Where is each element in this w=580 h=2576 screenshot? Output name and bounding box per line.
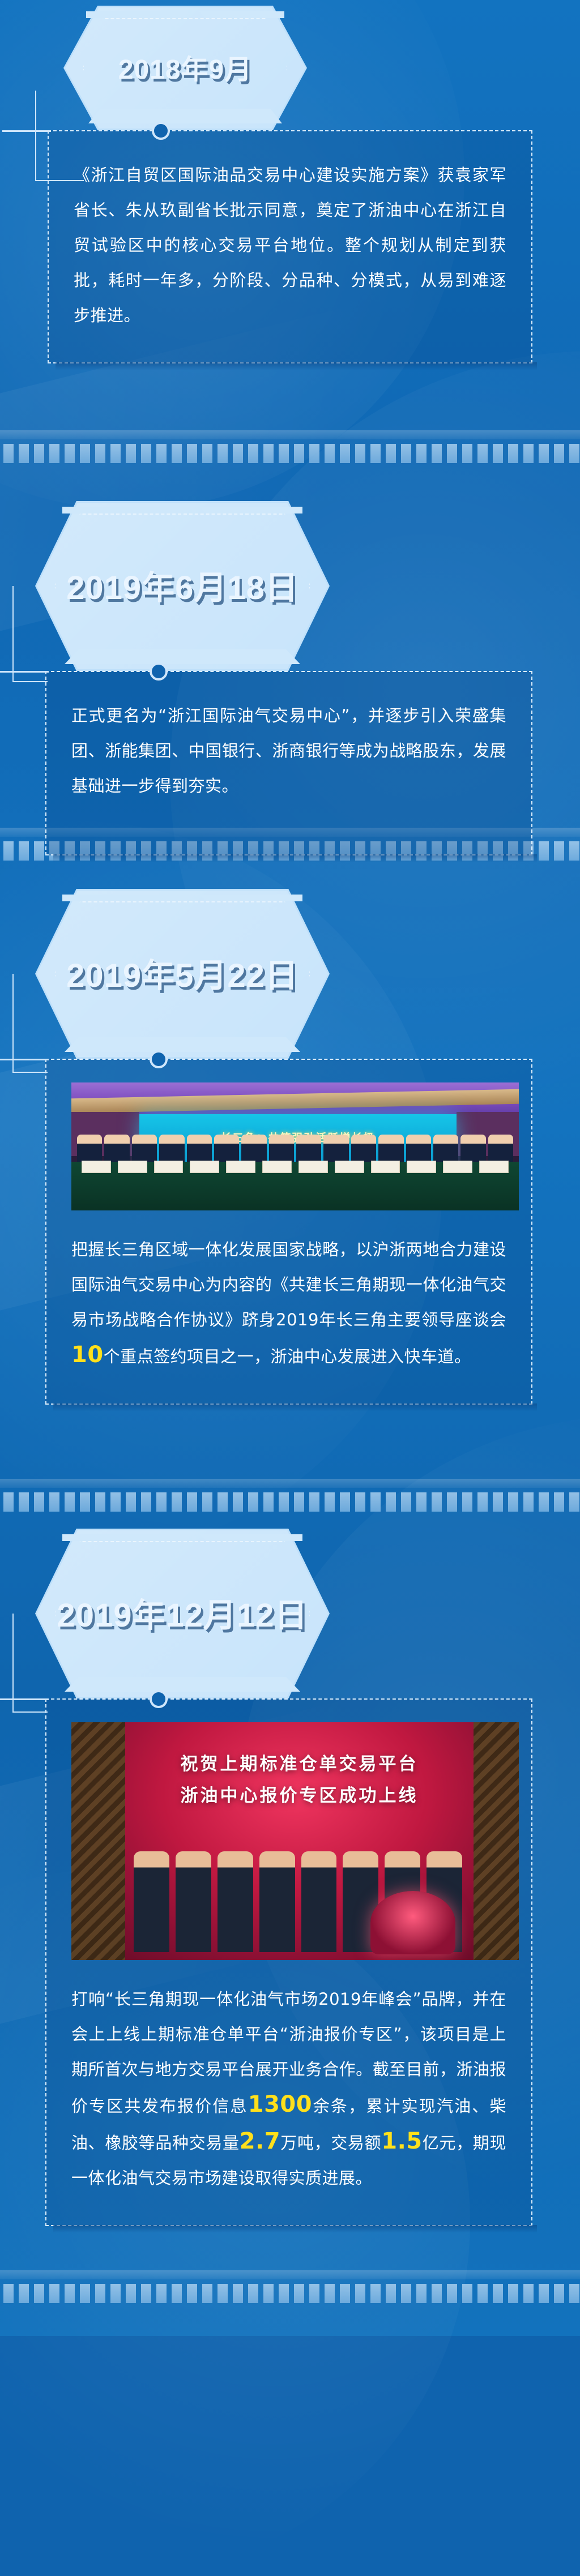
film-perforation [202, 2284, 212, 2303]
film-perforation [19, 2284, 29, 2303]
node-connector-bar [0, 1698, 49, 1700]
film-strip-perforations [0, 2284, 580, 2303]
film-perforation [110, 2284, 121, 2303]
highlight-number: 10 [71, 1342, 104, 1368]
film-perforation [447, 444, 457, 463]
film-perforation [325, 1492, 335, 1512]
content-card-2019-05-22: 长三角：共筑强劲活跃增长极 把握长三角区域一体化发展国家战略，以沪浙两地合力建设… [45, 1059, 532, 1405]
content-card-2018-09: 《浙江自贸区国际油品交易中心建设实施方案》获袁家军省长、朱从玖副省长批示同意，奠… [48, 130, 532, 363]
film-perforation [141, 2284, 151, 2303]
film-perforation [340, 2284, 350, 2303]
name-card [335, 1161, 364, 1173]
film-perforation [279, 1492, 289, 1512]
photo-name-cards [71, 1161, 519, 1173]
film-perforation [416, 444, 427, 463]
name-card [371, 1161, 400, 1173]
person [176, 1851, 211, 1952]
film-perforation [141, 444, 151, 463]
film-perforation [432, 444, 442, 463]
film-perforation [569, 444, 579, 463]
film-perforation [34, 444, 44, 463]
film-perforation [172, 2284, 182, 2303]
film-perforation [325, 444, 335, 463]
film-perforation [477, 1492, 488, 1512]
film-perforation [49, 444, 59, 463]
highlight-number: 2.7 [240, 2128, 280, 2154]
film-perforation [401, 444, 411, 463]
film-perforation [554, 1492, 564, 1512]
film-strip-separator-3 [0, 1479, 580, 1516]
film-perforation [279, 2284, 289, 2303]
film-perforation [569, 1492, 579, 1512]
film-perforation [462, 1492, 472, 1512]
node-connector-bar [0, 671, 49, 673]
timeline-section-2019-12-12: 2019年12月12日 祝贺上期标准仓单交易平台 浙油中心报价专区成功上线 打响… [0, 1529, 580, 2226]
film-perforation [172, 444, 182, 463]
film-perforation [294, 2284, 304, 2303]
film-perforation [309, 444, 319, 463]
card-shadow [53, 1403, 537, 1411]
film-perforation [569, 2284, 579, 2303]
timeline-node-dot [150, 1690, 168, 1708]
body-text: 《浙江自贸区国际油品交易中心建设实施方案》获袁家军省长、朱从玖副省长批示同意，奠… [74, 157, 506, 333]
highlight-number: 1.5 [381, 2128, 422, 2154]
photo-signing-ceremony: 长三角：共筑强劲活跃增长极 [71, 1082, 519, 1210]
name-card [407, 1161, 436, 1173]
film-perforation [3, 2284, 14, 2303]
film-perforation [95, 444, 105, 463]
film-perforation [80, 2284, 90, 2303]
film-strip-separator-4 [0, 2270, 580, 2308]
date-badge-2019-06-18[interactable]: 2019年6月18日 [35, 501, 330, 671]
person [259, 1851, 295, 1952]
connector-elbow [12, 681, 48, 682]
film-perforation [554, 2284, 564, 2303]
body-text: 打响“长三角期现一体化油气市场2019年峰会”品牌，并在会上上线上期标准仓单平台… [71, 1982, 506, 2196]
name-card [190, 1161, 219, 1173]
film-perforation [34, 1492, 44, 1512]
film-perforation [217, 444, 228, 463]
person [301, 1851, 337, 1952]
film-perforation [233, 2284, 243, 2303]
photo-side-panel-right [474, 1722, 519, 1960]
film-perforation [432, 2284, 442, 2303]
film-perforation [539, 1492, 549, 1512]
film-perforation [187, 444, 197, 463]
film-perforation [217, 1492, 228, 1512]
film-perforation [95, 1492, 105, 1512]
film-perforation [355, 444, 365, 463]
film-perforation [65, 2284, 75, 2303]
film-perforation [263, 2284, 274, 2303]
content-card-2019-12-12: 祝贺上期标准仓单交易平台 浙油中心报价专区成功上线 打响“长三角期现一体化油气市… [45, 1698, 532, 2226]
highlight-number: 1300 [248, 2091, 312, 2117]
film-perforation [294, 1492, 304, 1512]
connector-vertical-line [35, 91, 36, 181]
film-perforation [248, 444, 258, 463]
film-perforation [202, 1492, 212, 1512]
film-perforation [355, 1492, 365, 1512]
film-perforation [386, 2284, 396, 2303]
film-perforation [187, 1492, 197, 1512]
photo-launch-ball [370, 1891, 455, 1954]
film-perforation [493, 1492, 503, 1512]
film-perforation [187, 2284, 197, 2303]
film-perforation [3, 1492, 14, 1512]
timeline-section-2018-09: 2018年9月 《浙江自贸区国际油品交易中心建设实施方案》获袁家军省长、朱从玖副… [0, 6, 580, 363]
film-perforation [508, 1492, 518, 1512]
node-connector-bar [0, 1059, 49, 1060]
film-perforation [156, 444, 167, 463]
film-perforation [508, 444, 518, 463]
photo-launch-ceremony: 祝贺上期标准仓单交易平台 浙油中心报价专区成功上线 [71, 1722, 519, 1960]
name-card [479, 1161, 509, 1173]
film-perforation [263, 444, 274, 463]
film-perforation [126, 444, 136, 463]
film-perforation [65, 1492, 75, 1512]
film-perforation [294, 444, 304, 463]
film-perforation [248, 1492, 258, 1512]
film-perforation [233, 1492, 243, 1512]
film-perforation [462, 444, 472, 463]
film-perforation [110, 444, 121, 463]
film-perforation [126, 2284, 136, 2303]
film-perforation [554, 444, 564, 463]
date-label: 2019年6月18日 [35, 501, 330, 671]
film-perforation [126, 1492, 136, 1512]
film-perforation [248, 2284, 258, 2303]
card-shadow [56, 362, 537, 370]
film-perforation [370, 444, 381, 463]
film-perforation [3, 444, 14, 463]
card-shadow [53, 2225, 537, 2233]
body-text-run: 把握长三角区域一体化发展国家战略，以沪浙两地合力建设国际油气交易中心为内容的《共… [71, 1240, 506, 1329]
film-perforation [370, 2284, 381, 2303]
film-perforation [34, 2284, 44, 2303]
film-perforation [523, 444, 534, 463]
film-perforation [19, 444, 29, 463]
film-perforation [340, 1492, 350, 1512]
film-perforation [447, 2284, 457, 2303]
name-card [298, 1161, 328, 1173]
film-strip-band [0, 430, 580, 439]
name-card [118, 1161, 147, 1173]
timeline-node-dot [150, 1050, 168, 1068]
film-perforation [523, 2284, 534, 2303]
film-perforation [110, 1492, 121, 1512]
timeline-section-2019-06-18: 2019年6月18日 正式更名为“浙江国际油气交易中心”，并逐步引入荣盛集团、浙… [0, 501, 580, 855]
film-perforation [477, 2284, 488, 2303]
name-card [82, 1161, 111, 1173]
film-strip-perforations [0, 1492, 580, 1512]
connector-vertical-line [12, 1614, 14, 1713]
body-text: 把握长三角区域一体化发展国家战略，以沪浙两地合力建设国际油气交易中心为内容的《共… [71, 1232, 506, 1374]
node-connector-bar [2, 130, 51, 132]
connector-vertical-line [12, 974, 14, 1073]
film-strip-perforations [0, 444, 580, 463]
film-perforation [508, 2284, 518, 2303]
film-strip-separator-1 [0, 430, 580, 468]
film-perforation [416, 1492, 427, 1512]
photo-banner-text: 祝贺上期标准仓单交易平台 浙油中心报价专区成功上线 [125, 1748, 474, 1812]
film-perforation [523, 1492, 534, 1512]
name-card [443, 1161, 472, 1173]
film-perforation [401, 2284, 411, 2303]
content-card-2019-06-18: 正式更名为“浙江国际油气交易中心”，并逐步引入荣盛集团、浙能集团、中国银行、浙商… [45, 671, 532, 855]
film-perforation [386, 1492, 396, 1512]
film-perforation [80, 444, 90, 463]
film-perforation [325, 2284, 335, 2303]
timeline-section-2019-05-22: 2019年5月22日 长三角：共筑强劲活跃增长极 [0, 889, 580, 1405]
film-perforation [432, 1492, 442, 1512]
film-perforation [19, 1492, 29, 1512]
film-perforation [477, 444, 488, 463]
photo-side-panel-left [71, 1722, 125, 1960]
film-perforation [340, 444, 350, 463]
film-strip-band [0, 1479, 580, 1488]
film-perforation [141, 1492, 151, 1512]
film-perforation [493, 2284, 503, 2303]
timeline-node-dot [152, 122, 170, 140]
name-card [154, 1161, 184, 1173]
film-perforation [279, 444, 289, 463]
film-perforation [217, 2284, 228, 2303]
film-perforation [80, 1492, 90, 1512]
film-perforation [65, 444, 75, 463]
connector-elbow [12, 1711, 48, 1713]
person [217, 1851, 253, 1952]
film-perforation [447, 1492, 457, 1512]
film-perforation [386, 444, 396, 463]
film-perforation [263, 1492, 274, 1512]
film-perforation [309, 1492, 319, 1512]
date-label: 2019年5月22日 [35, 889, 330, 1059]
film-perforation [202, 444, 212, 463]
film-perforation [156, 2284, 167, 2303]
date-label: 2018年9月 [63, 6, 307, 130]
film-strip-band [0, 2270, 580, 2279]
film-perforation [416, 2284, 427, 2303]
date-badge-2018-09[interactable]: 2018年9月 [63, 6, 307, 130]
film-perforation [493, 444, 503, 463]
connector-vertical-line [12, 586, 14, 682]
film-perforation [539, 444, 549, 463]
body-text-run: 个重点签约项目之一，浙油中心发展进入快车道。 [104, 1347, 471, 1366]
person [134, 1851, 169, 1952]
film-perforation [401, 1492, 411, 1512]
film-perforation [95, 2284, 105, 2303]
film-perforation [49, 2284, 59, 2303]
film-perforation [172, 1492, 182, 1512]
timeline-node-dot [150, 662, 168, 681]
date-badge-2019-05-22[interactable]: 2019年5月22日 [35, 889, 330, 1059]
connector-elbow [12, 1072, 48, 1073]
banner-line-1: 祝贺上期标准仓单交易平台 [125, 1748, 474, 1780]
film-perforation [462, 2284, 472, 2303]
film-perforation [370, 1492, 381, 1512]
film-perforation [233, 444, 243, 463]
film-perforation [539, 2284, 549, 2303]
date-label: 2019年12月12日 [35, 1529, 330, 1698]
name-card [226, 1161, 255, 1173]
banner-line-2: 浙油中心报价专区成功上线 [125, 1780, 474, 1812]
card-shadow [53, 854, 537, 862]
film-perforation [355, 2284, 365, 2303]
film-perforation [49, 1492, 59, 1512]
film-perforation [309, 2284, 319, 2303]
body-text-run: 万吨，交易额 [280, 2133, 381, 2153]
name-card [262, 1161, 292, 1173]
date-badge-2019-12-12[interactable]: 2019年12月12日 [35, 1529, 330, 1698]
film-perforation [156, 1492, 167, 1512]
body-text: 正式更名为“浙江国际油气交易中心”，并逐步引入荣盛集团、浙能集团、中国银行、浙商… [71, 698, 506, 803]
